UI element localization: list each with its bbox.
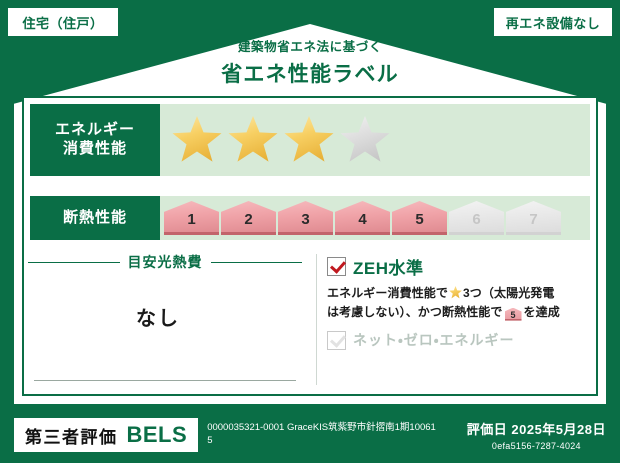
mini-star-icon <box>449 286 462 299</box>
insulation-level-3: 3 <box>278 201 333 235</box>
energy-star-rating <box>160 104 590 176</box>
heading-rule-left <box>28 262 120 263</box>
star-icon-4 <box>340 116 390 164</box>
utility-cost-heading-row: 目安光熱費 <box>28 252 302 272</box>
heading-rule-right <box>211 262 303 263</box>
net-zero-energy-label: ネット・ゼロ・エネルギー <box>353 330 515 350</box>
evaluation-meta: 評価日 2025年5月28日 0efa5156-7287-4024 <box>467 419 606 451</box>
zeh-description: エネルギー消費性能で3つ（太陽光発電 は考慮しない）、かつ断熱性能で5を達成 <box>327 284 595 321</box>
zeh-label: ZEH水準 <box>353 254 424 279</box>
zeh-checkbox-checked-icon <box>327 257 346 276</box>
insulation-level-6: 6 <box>449 201 504 235</box>
evaluation-code: 0efa5156-7287-4024 <box>467 441 606 451</box>
utility-cost-heading: 目安光熱費 <box>128 252 203 272</box>
lower-section: 目安光熱費 なし ZEH水準 エネルギー消費性能で3つ（太陽光発電 は考慮しない… <box>24 250 596 395</box>
utility-cost-bottom-rule <box>34 380 296 381</box>
insulation-level-5: 5 <box>392 201 447 235</box>
bels-badge: 第三者評価 BELS <box>14 418 198 452</box>
energy-performance-header: エネルギー 消費性能 <box>30 104 160 176</box>
energy-header-line2: 消費性能 <box>55 140 135 159</box>
evaluation-id: 0000035321-0001 GraceKIS筑紫野市針摺南1期100615 <box>207 422 437 448</box>
insulation-level-4: 4 <box>335 201 390 235</box>
mini-insulation-grade-icon: 5 <box>505 308 522 321</box>
star-icon-1 <box>172 116 222 164</box>
net-zero-checkbox-unchecked-icon <box>327 331 346 350</box>
energy-header-line1: エネルギー <box>55 121 135 140</box>
net-zero-energy-row: ネット・ゼロ・エネルギー <box>327 330 596 350</box>
building-type-tag: 住宅（住戸） <box>8 8 118 36</box>
zeh-desc-part2: は考慮しない）、かつ断熱性能で <box>327 305 503 319</box>
evaluation-date: 評価日 2025年5月28日 <box>467 419 606 438</box>
third-party-evaluation-label: 第三者評価 <box>25 423 118 448</box>
zeh-desc-part3: を達成 <box>524 305 560 319</box>
insulation-level-2: 2 <box>221 201 276 235</box>
insulation-performance-header: 断熱性能 <box>30 196 160 240</box>
renewable-energy-tag: 再エネ設備なし <box>494 8 612 36</box>
insulation-level-1: 1 <box>164 201 219 235</box>
insulation-level-7: 7 <box>506 201 561 235</box>
utility-cost-value: なし <box>24 302 316 331</box>
zeh-title-row: ZEH水準 <box>327 254 596 279</box>
zeh-desc-part1: エネルギー消費性能で <box>327 286 448 300</box>
zeh-desc-star-count: 3つ（太陽光発電 <box>463 286 554 300</box>
zeh-section: ZEH水準 エネルギー消費性能で3つ（太陽光発電 は考慮しない）、かつ断熱性能で… <box>327 250 596 395</box>
insulation-performance-row: 断熱性能 1 2 3 4 5 6 7 <box>30 196 590 240</box>
star-icon-3 <box>284 116 334 164</box>
utility-cost-section: 目安光熱費 なし <box>24 250 316 395</box>
bels-logo: BELS <box>127 422 188 448</box>
energy-performance-row: エネルギー 消費性能 <box>30 104 590 176</box>
energy-performance-label: 住宅（住戸） 再エネ設備なし 建築物省エネ法に基づく 省エネ性能ラベル エネルギ… <box>0 0 620 463</box>
footer-bar: 第三者評価 BELS 0000035321-0001 GraceKIS筑紫野市針… <box>0 407 620 463</box>
star-icon-2 <box>228 116 278 164</box>
insulation-level-scale: 1 2 3 4 5 6 7 <box>160 196 590 240</box>
section-divider <box>316 254 317 385</box>
